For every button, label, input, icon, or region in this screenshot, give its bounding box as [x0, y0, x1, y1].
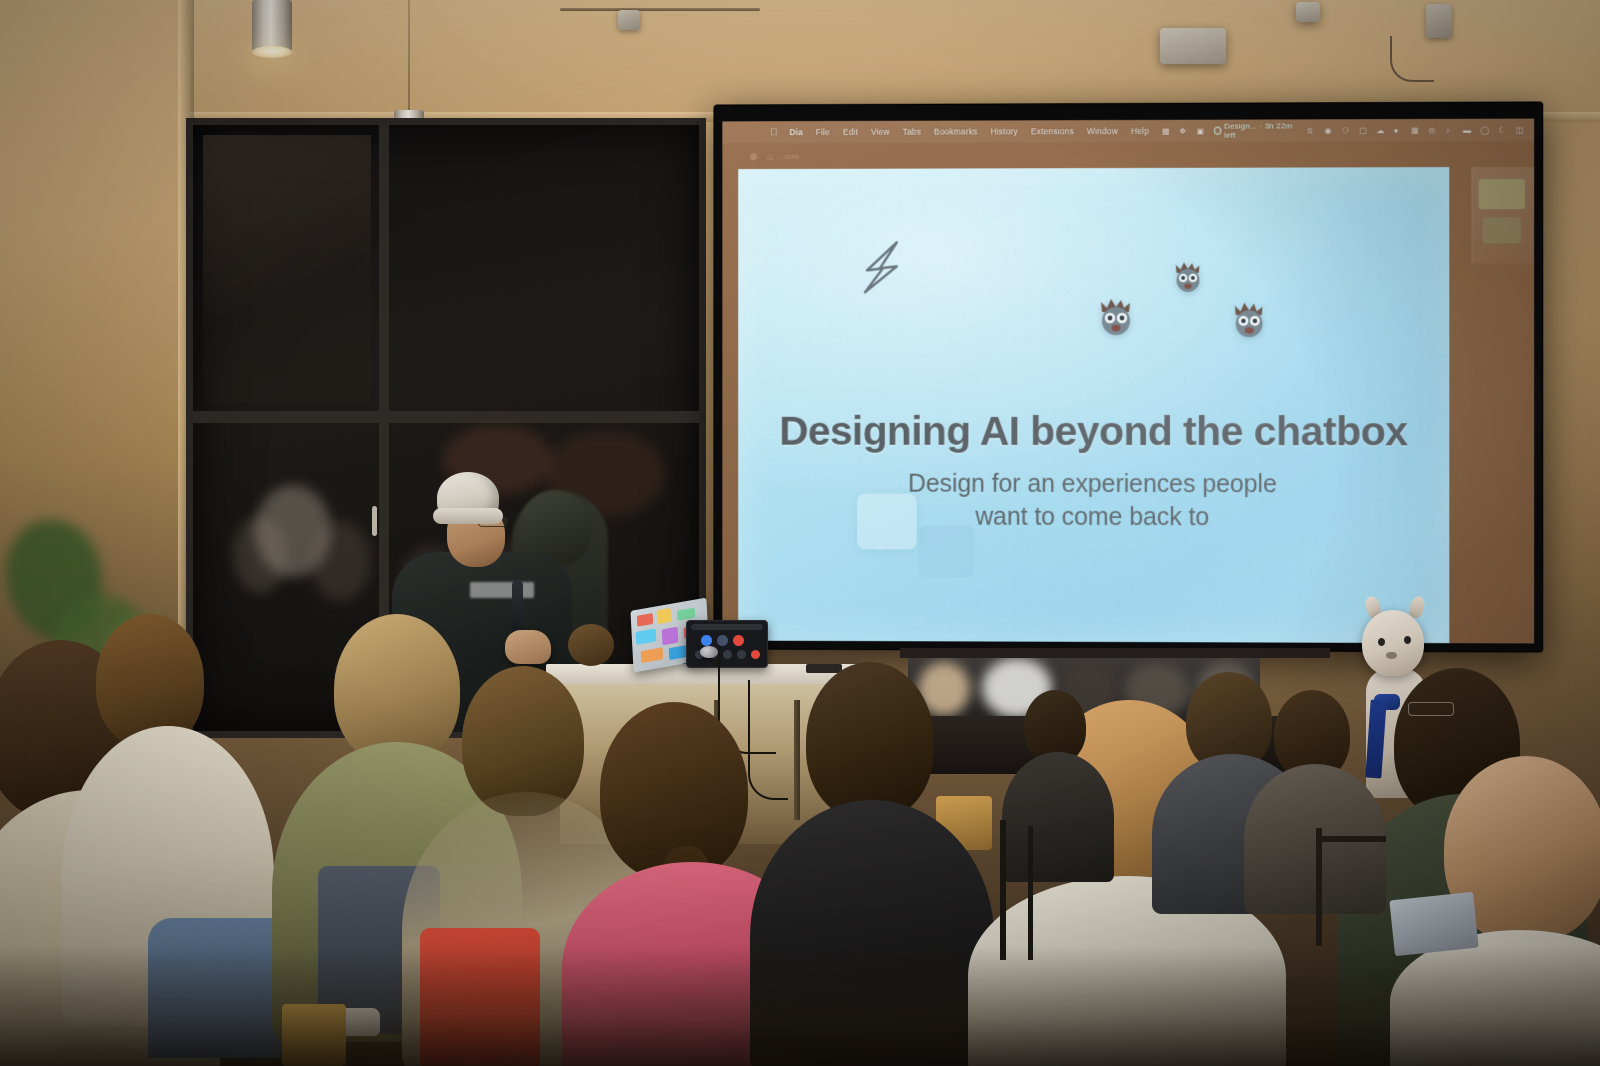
laptop-sticker-7	[641, 647, 664, 663]
laptop-sticker-3	[677, 608, 695, 621]
glass-silhouette-2	[233, 517, 287, 593]
laptop-sticker-1	[637, 613, 654, 627]
audience-hair-bun-4	[568, 624, 614, 666]
ceiling-surface	[0, 0, 1600, 120]
laptop-sticker-5	[662, 627, 679, 646]
bluetooth-icon[interactable]: ✥	[1179, 126, 1187, 135]
tablet-title-bar	[691, 624, 763, 630]
ceiling-junction-box	[618, 10, 640, 30]
menu-item-bookmarks[interactable]: Bookmarks	[934, 127, 978, 137]
stats-icon[interactable]: ▩	[1162, 126, 1170, 135]
alpaca-nose	[1386, 652, 1397, 659]
browser-chrome-bar[interactable]: △ ....com	[722, 141, 1534, 169]
pendant-light-1	[252, 0, 292, 62]
decor-square-2	[919, 526, 975, 578]
sync-icon[interactable]: ⚆	[1342, 126, 1350, 135]
projected-desktop:  Dia File Edit View Tabs Bookmarks Hist…	[722, 119, 1534, 644]
audience-glasses-8	[1408, 702, 1454, 716]
timer-status[interactable]: Design... · 3h 22m left	[1214, 121, 1299, 139]
glass-reflection-panel	[203, 135, 371, 403]
control-center-icon[interactable]: ◫	[1516, 125, 1524, 134]
apple-logo-icon[interactable]: 	[770, 127, 778, 138]
floor-shadow	[0, 946, 1600, 1066]
wifi-icon[interactable]: ◯	[1480, 125, 1489, 134]
moon-icon[interactable]: ☾	[1498, 125, 1506, 134]
wall-electrical-box	[1426, 4, 1452, 38]
window-mullion-horizontal	[193, 411, 699, 423]
macos-menubar[interactable]:  Dia File Edit View Tabs Bookmarks Hist…	[722, 119, 1534, 144]
door-handle[interactable]	[372, 506, 377, 536]
settings-icon[interactable]: ◉	[1325, 126, 1333, 135]
ceiling-conduit	[560, 8, 760, 11]
projection-screen:  Dia File Edit View Tabs Bookmarks Hist…	[714, 102, 1542, 651]
spiky-character-icon-3	[1228, 300, 1270, 342]
ceiling-speaker-left	[1160, 28, 1226, 64]
spotify-icon[interactable]: S	[1307, 126, 1315, 135]
shield-icon: △	[767, 152, 773, 161]
display-icon[interactable]: ▬	[1463, 125, 1471, 134]
tablet-button-mic[interactable]	[701, 635, 712, 646]
background-window-sliver[interactable]	[1472, 167, 1535, 264]
slide-title: Designing AI beyond the chatbox	[738, 408, 1449, 456]
spiky-character-icon-2	[1170, 260, 1206, 296]
alpaca-head	[1362, 610, 1424, 676]
window-thumb-b	[1483, 217, 1521, 243]
presentation-slide[interactable]: Designing AI beyond the chatbox Design f…	[738, 167, 1449, 643]
tablet-button-row-1[interactable]	[701, 635, 744, 646]
screen-record-icon[interactable]: ▣	[1196, 126, 1204, 135]
desk-leg-right	[794, 700, 800, 820]
menu-item-file[interactable]: File	[816, 127, 830, 137]
address-bar-text: ....com	[777, 152, 799, 161]
menu-item-window[interactable]: Window	[1087, 126, 1118, 136]
account-icon[interactable]: ◎	[1428, 125, 1436, 134]
slide-subtitle: Design for an experiences people want to…	[738, 468, 1449, 534]
table-microphone	[700, 646, 718, 658]
timer-icon	[1214, 127, 1221, 135]
glass-silhouette-3	[311, 521, 371, 601]
address-bar[interactable]: △ ....com	[767, 152, 799, 161]
volume-icon[interactable]: ♪	[1446, 125, 1454, 134]
stand-pole-3	[1316, 828, 1322, 946]
slide-dot-texture	[738, 167, 1449, 643]
display-frame-top	[900, 648, 1330, 658]
timer-status-label: Design... · 3h 22m left	[1224, 121, 1298, 139]
clock-icon[interactable]: ●	[1394, 126, 1402, 135]
desk-connector-box	[806, 664, 842, 673]
desk-cable-2	[748, 680, 788, 800]
menubar-tray[interactable]: ▩ ✥ ▣ Design... · 3h 22m left S ◉ ⚆ ▢ ☁ …	[1162, 121, 1524, 140]
chevron-left-icon[interactable]	[750, 153, 757, 160]
menu-item-extensions[interactable]: Extensions	[1031, 126, 1074, 136]
menu-item-view[interactable]: View	[871, 127, 890, 137]
spiky-character-icon-1	[1094, 296, 1138, 340]
laptop-sticker-4	[636, 629, 657, 645]
hanging-wire	[1390, 36, 1434, 82]
presentation-room-scene:  Dia File Edit View Tabs Bookmarks Hist…	[0, 0, 1600, 1066]
menu-item-help[interactable]: Help	[1131, 126, 1149, 136]
speaker-beanie-brim	[433, 508, 503, 524]
menu-item-edit[interactable]: Edit	[843, 127, 858, 137]
ceiling-speaker-right	[1296, 2, 1320, 22]
stand-pole-1	[1000, 820, 1006, 960]
menu-item-tabs[interactable]: Tabs	[903, 127, 921, 137]
stand-crossbar	[1322, 836, 1386, 842]
speaker-hands	[505, 630, 551, 664]
speaker-hoodie-print	[470, 582, 534, 598]
alpaca-eye-left	[1378, 638, 1385, 646]
lightning-bolt-icon	[853, 236, 909, 303]
apps-icon[interactable]: ▦	[1411, 126, 1419, 135]
stand-pole-2	[1028, 826, 1033, 960]
battery-icon[interactable]: ▢	[1359, 126, 1367, 135]
tablet-button-record[interactable]	[733, 635, 744, 646]
window-thumb-a	[1479, 179, 1525, 209]
tablet-button-camera[interactable]	[717, 635, 728, 646]
alpaca-eye-right	[1404, 636, 1411, 644]
menu-item-history[interactable]: History	[990, 126, 1017, 136]
slide-subtitle-line-2: want to come back to	[738, 500, 1449, 534]
laptop-sticker-2	[657, 608, 672, 624]
menu-item-dia[interactable]: Dia	[789, 127, 803, 137]
cloud-icon[interactable]: ☁	[1376, 126, 1384, 135]
slide-subtitle-line-1: Design for an experiences people	[738, 468, 1449, 502]
